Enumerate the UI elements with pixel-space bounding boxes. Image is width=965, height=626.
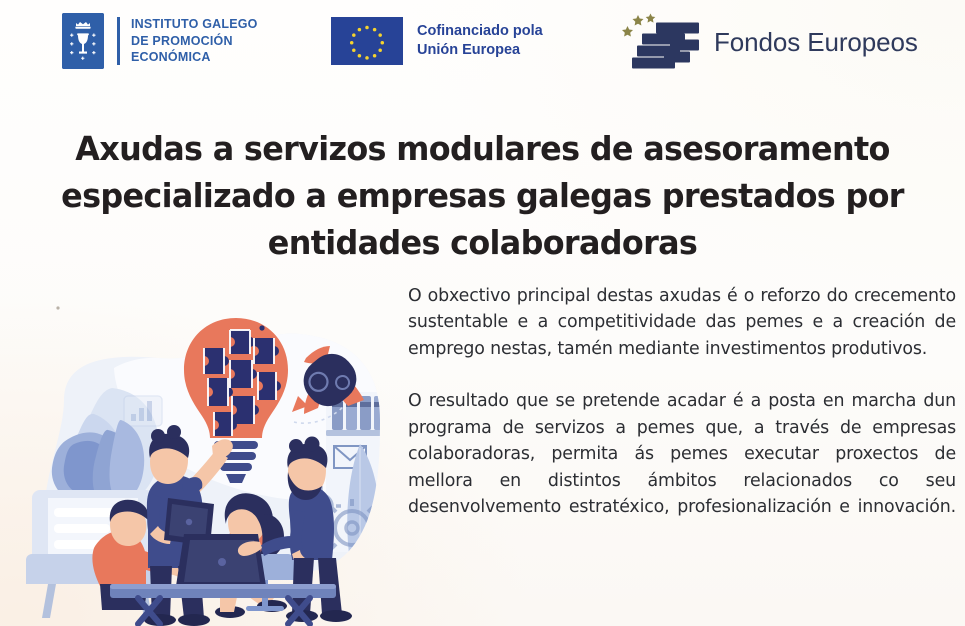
page-title: Axudas a servizos modulares de asesorame… bbox=[55, 126, 909, 267]
stepped-bars-with-stars-icon bbox=[618, 9, 704, 75]
logo-european-union: Cofinanciado pola Unión Europea bbox=[331, 17, 543, 65]
eu-cofinancing-label: Cofinanciado pola Unión Europea bbox=[417, 22, 543, 60]
scan-speck bbox=[56, 306, 59, 309]
igape-wordmark: INSTITUTO GALEGO DE PROMOCIÓN ECONÓMICA bbox=[131, 16, 258, 66]
paragraph-objective: O obxectivo principal destas axudas é o … bbox=[408, 283, 956, 362]
body-copy: O obxectivo principal destas axudas é o … bbox=[408, 283, 956, 547]
european-union-flag-icon bbox=[331, 17, 403, 65]
xunta-de-galicia-chalice-coat-of-arms-icon bbox=[62, 13, 104, 69]
paragraph-result: O resultado que se pretende acadar é a p… bbox=[408, 388, 956, 547]
fondos-europeos-wordmark: Fondos Europeos bbox=[714, 27, 918, 58]
logo-fondos-europeos: Fondos Europeos bbox=[618, 9, 918, 75]
logo-divider bbox=[117, 17, 120, 65]
logo-igape: INSTITUTO GALEGO DE PROMOCIÓN ECONÓMICA bbox=[62, 13, 258, 69]
logo-bar: INSTITUTO GALEGO DE PROMOCIÓN ECONÓMICA bbox=[0, 0, 965, 92]
team-collaboration-illustration bbox=[8, 296, 400, 626]
